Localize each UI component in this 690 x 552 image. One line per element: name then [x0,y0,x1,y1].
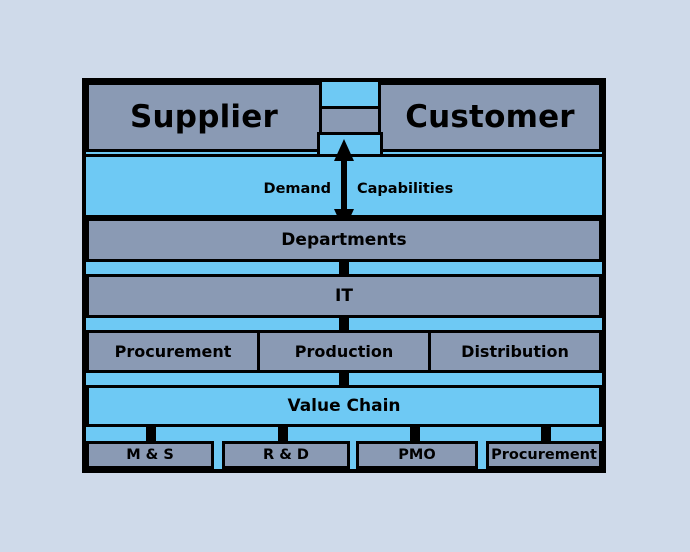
gap-functions-value-chain [86,373,602,385]
diagram-frame: Supplier Customer Demand Capabilities De… [82,78,606,473]
unit-box-rd[interactable]: R & D [222,441,350,469]
it-row[interactable]: IT [86,274,602,318]
connector-tab-unit-0 [146,427,156,441]
diagram-stage: Supplier Customer Demand Capabilities De… [86,82,602,469]
connector-tab-unit-2 [410,427,420,441]
unit-label-rd: R & D [263,448,309,463]
unit-box-pmo[interactable]: PMO [356,441,478,469]
value-chain-label: Value Chain [89,388,599,424]
function-cell-distribution[interactable]: Distribution [431,333,599,370]
gap-it-functions [86,318,602,330]
function-cell-production[interactable]: Production [260,333,431,370]
gap-departments-it [86,262,602,274]
capabilities-label: Capabilities [357,157,453,221]
connector-tab-functions-value-chain [339,373,349,385]
unit-label-procurement: Procurement [491,448,597,463]
customer-box[interactable]: Customer [378,82,602,152]
unit-label-pmo: PMO [398,448,435,463]
departments-label: Departments [89,221,599,259]
function-label-production: Production [295,344,393,360]
header-top-notch [319,82,381,109]
unit-label-ms: M & S [126,448,174,463]
connector-tab-it-functions [339,318,349,330]
units-row: M & S R & D PMO Procurement [86,441,602,469]
supplier-label: Supplier [89,85,319,149]
supplier-box[interactable]: Supplier [86,82,322,152]
demand-capabilities-band: Demand Capabilities [86,154,602,218]
unit-box-procurement[interactable]: Procurement [486,441,602,469]
functions-row: Procurement Production Distribution [86,330,602,373]
unit-box-ms[interactable]: M & S [86,441,214,469]
demand-label: Demand [264,157,331,221]
customer-label: Customer [381,85,599,149]
gap-value-chain-units [86,427,602,441]
it-label: IT [89,277,599,315]
connector-tab-unit-3 [541,427,551,441]
function-cell-procurement[interactable]: Procurement [89,333,260,370]
connector-tab-unit-1 [278,427,288,441]
connector-tab-departments-it [339,262,349,274]
value-chain-row[interactable]: Value Chain [86,385,602,427]
function-label-procurement: Procurement [115,344,232,360]
function-label-distribution: Distribution [461,344,569,360]
departments-row[interactable]: Departments [86,218,602,262]
